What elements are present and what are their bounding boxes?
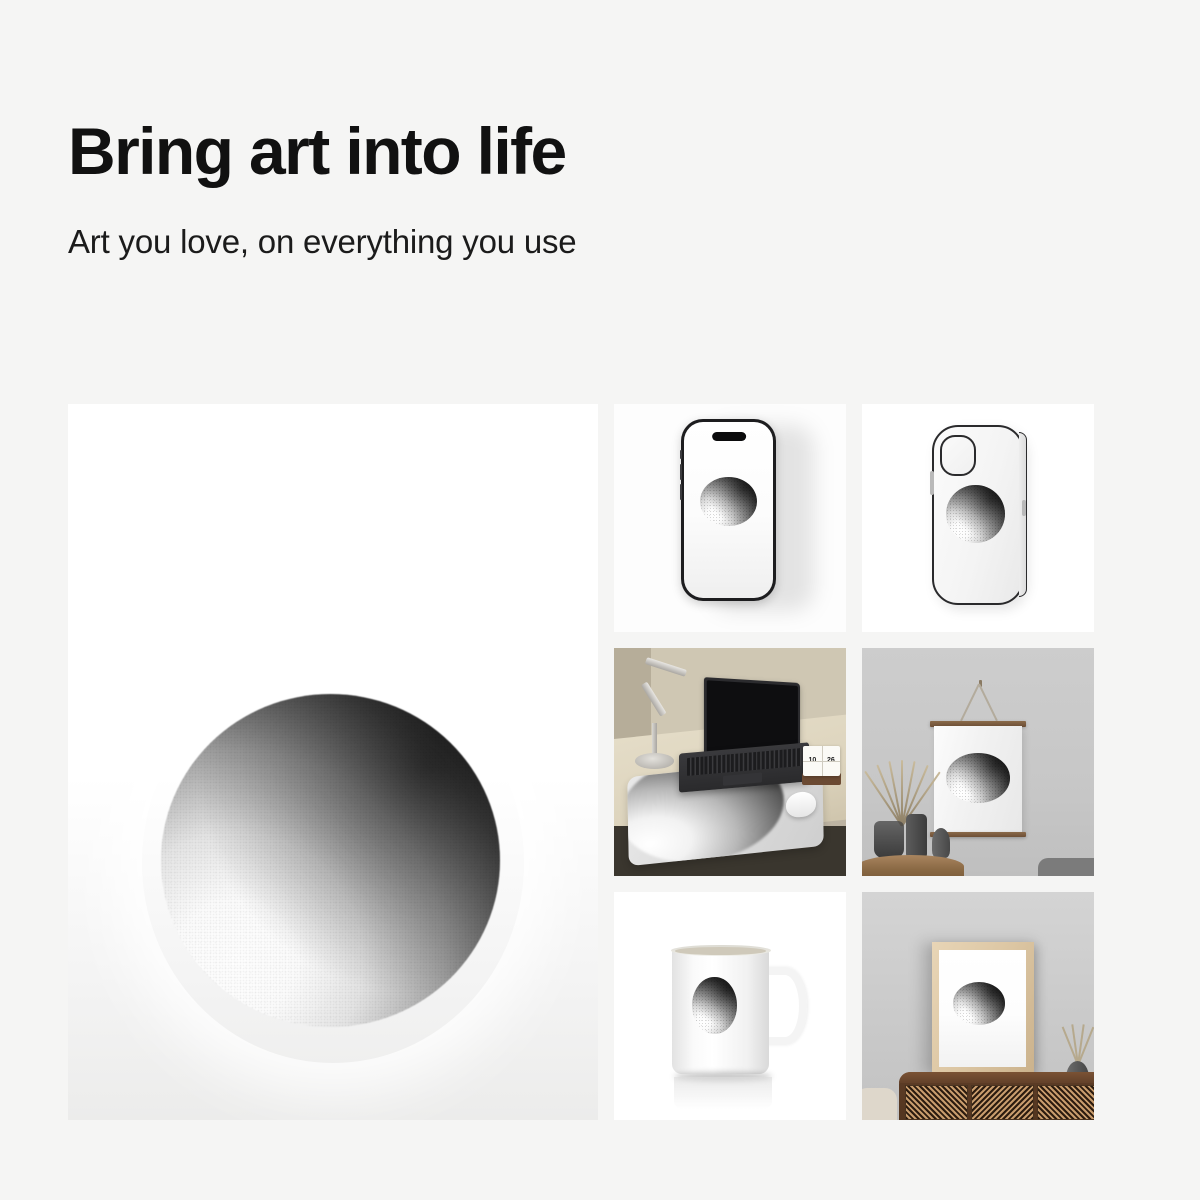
sideboard-top-surface bbox=[899, 1072, 1094, 1083]
grain-texture bbox=[946, 753, 1009, 802]
grain-texture bbox=[700, 477, 757, 526]
camera-cutout bbox=[940, 435, 976, 476]
sphere-artwork bbox=[953, 982, 1005, 1024]
mug-mockup-tile[interactable] bbox=[614, 892, 846, 1120]
case-button-cutout bbox=[930, 479, 934, 495]
laptop-trackpad bbox=[723, 773, 762, 786]
grain-texture bbox=[161, 694, 500, 1027]
product-gallery-grid: 10 26 bbox=[68, 404, 1132, 1132]
mug-reflection bbox=[674, 1077, 771, 1109]
phone-case-mockup-tile[interactable] bbox=[862, 404, 1094, 632]
wooden-frame bbox=[932, 942, 1034, 1074]
glass-vase bbox=[874, 821, 904, 857]
poster-paper bbox=[934, 726, 1022, 833]
laptop-keyboard bbox=[687, 749, 801, 777]
artwork-canvas bbox=[68, 404, 598, 1120]
desk-mat-mockup-tile[interactable]: 10 26 bbox=[614, 648, 846, 876]
grain-texture bbox=[692, 977, 737, 1035]
sphere-artwork bbox=[946, 485, 1005, 543]
phone-button-silent bbox=[680, 450, 683, 459]
phone-button-volume-down bbox=[680, 484, 683, 500]
page-root: Bring art into life Art you love, on eve… bbox=[0, 0, 1200, 1200]
sphere-artwork bbox=[692, 977, 737, 1035]
armchair bbox=[862, 1088, 897, 1120]
sphere-artwork bbox=[946, 753, 1009, 802]
tall-ceramic-vase bbox=[906, 814, 927, 857]
lamp-base bbox=[635, 753, 674, 769]
case-button-cutout bbox=[1022, 500, 1026, 516]
grain-texture bbox=[946, 485, 1005, 543]
small-ceramic-vase bbox=[932, 828, 951, 858]
mug-body bbox=[672, 949, 769, 1074]
phone-case bbox=[932, 425, 1025, 605]
frame-mat bbox=[939, 950, 1026, 1067]
phone-button-volume-up bbox=[680, 464, 683, 480]
sofa bbox=[1038, 858, 1094, 876]
phone-mockup-tile[interactable] bbox=[614, 404, 846, 632]
phone-screen bbox=[684, 422, 773, 598]
mug-handle bbox=[762, 967, 806, 1045]
side-table bbox=[862, 855, 964, 876]
page-title: Bring art into life bbox=[68, 118, 1068, 184]
header: Bring art into life Art you love, on eve… bbox=[68, 118, 1068, 260]
sideboard-door-panel bbox=[1037, 1085, 1094, 1120]
framed-poster-mockup-tile[interactable] bbox=[862, 892, 1094, 1120]
hanging-poster-mockup-tile[interactable] bbox=[862, 648, 1094, 876]
dried-grass bbox=[1066, 1024, 1087, 1065]
sphere-artwork bbox=[161, 694, 500, 1027]
sideboard-door-panel bbox=[905, 1085, 968, 1120]
mug-interior bbox=[675, 947, 765, 955]
grain-texture bbox=[953, 982, 1005, 1024]
wooden-sideboard bbox=[899, 1072, 1094, 1120]
sphere-artwork bbox=[700, 477, 757, 526]
dynamic-island bbox=[712, 432, 746, 441]
phone-device bbox=[681, 419, 776, 601]
page-subtitle: Art you love, on everything you use bbox=[68, 224, 1068, 260]
artwork-preview-tile[interactable] bbox=[68, 404, 598, 1120]
sideboard-doors bbox=[905, 1085, 1094, 1120]
flip-calendar: 10 26 bbox=[803, 746, 840, 776]
calendar-flip-line bbox=[803, 761, 840, 762]
sideboard-door-panel bbox=[971, 1085, 1034, 1120]
